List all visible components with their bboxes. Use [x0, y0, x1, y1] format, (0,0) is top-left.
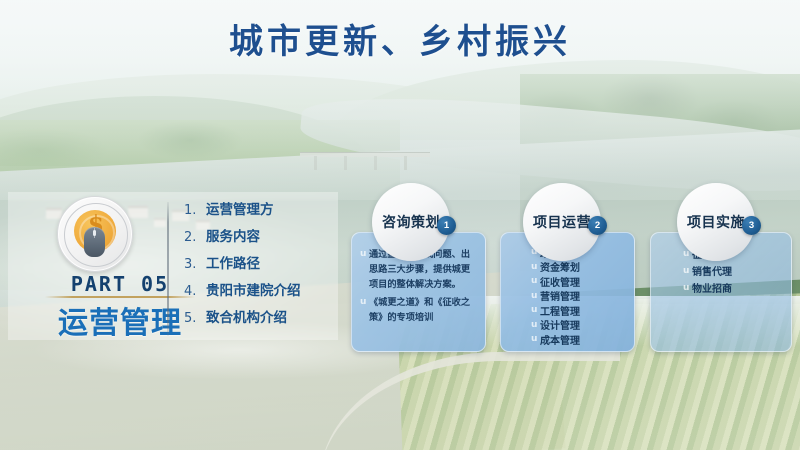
process-step-badge-1: 1: [437, 216, 456, 235]
agenda-item-label: 服务内容: [206, 225, 260, 245]
card-list-item-label: 销售代理: [692, 263, 732, 278]
bullet-icon: u: [360, 247, 369, 292]
card-list-item[interactable]: u工程管理: [501, 303, 634, 318]
mouse-wheel-icon: [93, 230, 96, 236]
card-paragraph: u《城更之道》和《征收之策》的专项培训: [360, 295, 477, 325]
agenda-item-3[interactable]: 3.工作路径: [184, 252, 334, 279]
card-list-item[interactable]: u销售代理: [651, 262, 791, 279]
agenda-item-1[interactable]: 1.运营管理方: [184, 198, 334, 225]
card-list-item[interactable]: u营销管理: [501, 289, 634, 304]
agenda-item-4[interactable]: 4.贵阳市建院介绍: [184, 279, 334, 306]
coin-mouse-icon: $: [57, 196, 133, 272]
card-list-item[interactable]: u设计管理: [501, 318, 634, 333]
agenda-item-5[interactable]: 5.致合机构介绍: [184, 306, 334, 333]
card-paragraph-text: 《城更之道》和《征收之策》的专项培训: [369, 295, 477, 325]
agenda-item-number: 1.: [184, 203, 206, 218]
process-card-heading-label: 项目运营: [533, 212, 591, 232]
card-list-item-label: 设计管理: [540, 317, 580, 332]
presentation-slide: 城市更新、乡村振兴 $ PART 05 运营管理 1.运营管理方2.服务内容3.…: [0, 0, 800, 450]
bullet-icon: u: [531, 303, 540, 317]
part-title: 运营管理: [38, 298, 202, 342]
agenda-item-number: 5.: [184, 311, 206, 326]
agenda-item-number: 3.: [184, 257, 206, 272]
vertical-divider: [167, 202, 169, 336]
agenda-item-number: 2.: [184, 230, 206, 245]
bullet-icon: u: [360, 295, 369, 325]
card-list-item[interactable]: u成本管理: [501, 332, 634, 347]
bullet-icon: u: [531, 332, 540, 346]
agenda-item-label: 工作路径: [206, 252, 260, 272]
card-list-item-label: 物业招商: [692, 280, 732, 295]
agenda-item-number: 4.: [184, 284, 206, 299]
card-list-item-label: 资金筹划: [540, 259, 580, 274]
card-list-item[interactable]: u物业招商: [651, 279, 791, 296]
agenda-item-label: 贵阳市建院介绍: [206, 279, 301, 299]
bullet-icon: u: [683, 281, 692, 295]
bullet-icon: u: [531, 318, 540, 332]
agenda-item-2[interactable]: 2.服务内容: [184, 225, 334, 252]
card-list-item-label: 营销管理: [540, 288, 580, 303]
bullet-icon: u: [531, 260, 540, 274]
process-card-heading-label: 项目实施: [687, 212, 745, 232]
agenda-list: 1.运营管理方2.服务内容3.工作路径4.贵阳市建院介绍5.致合机构介绍: [184, 198, 334, 333]
card-list-item-label: 工程管理: [540, 303, 580, 318]
part-label: PART 05: [50, 272, 190, 296]
card-list-item[interactable]: u征收管理: [501, 274, 634, 289]
card-list-item-label: 成本管理: [540, 332, 580, 347]
process-step-badge-3: 3: [742, 216, 761, 235]
bullet-icon: u: [531, 289, 540, 303]
bullet-icon: u: [531, 274, 540, 288]
process-step-badge-2: 2: [588, 216, 607, 235]
card-list-item-label: 征收管理: [540, 274, 580, 289]
slide-title: 城市更新、乡村振兴: [0, 14, 800, 63]
process-card-heading-label: 咨询策划: [382, 212, 440, 232]
card-list-item[interactable]: u资金筹划: [501, 260, 634, 275]
agenda-item-label: 致合机构介绍: [206, 306, 287, 326]
bullet-icon: u: [683, 264, 692, 278]
agenda-item-label: 运营管理方: [206, 198, 274, 218]
